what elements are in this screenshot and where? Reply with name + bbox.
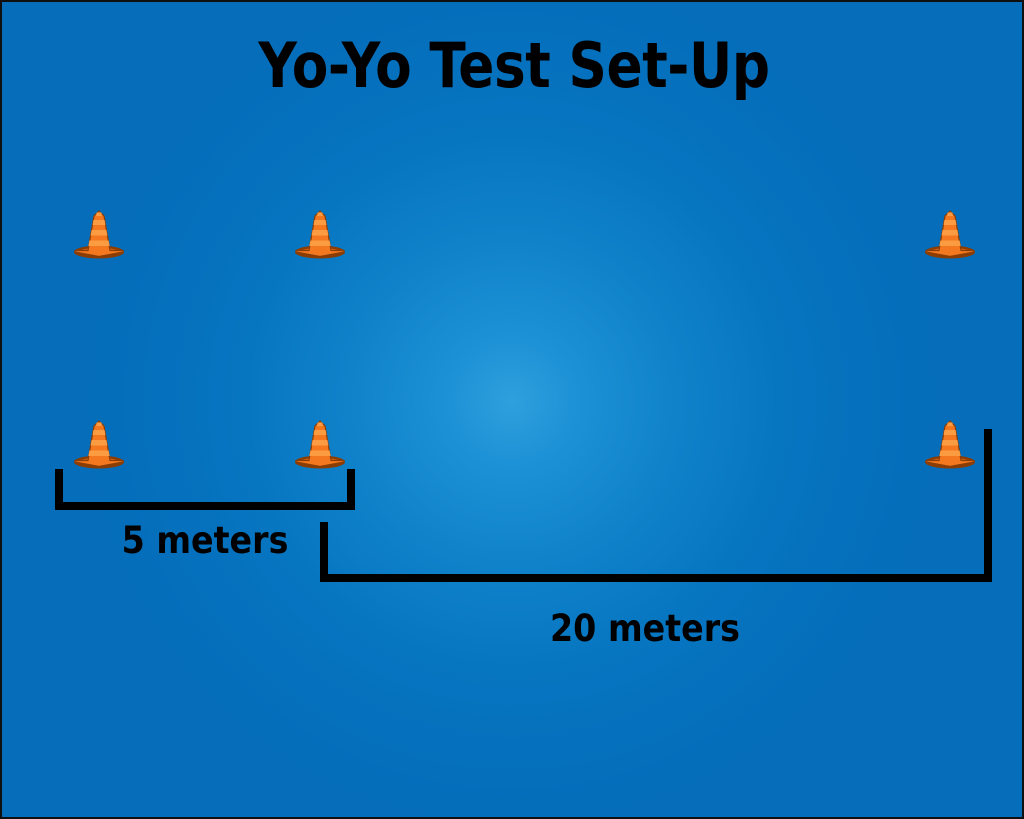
traffic-cone-icon (921, 416, 979, 470)
traffic-cone-icon (291, 206, 349, 260)
measure-20m-bracket-rail (320, 574, 992, 582)
traffic-cone-icon (921, 206, 979, 260)
measure-20m-label: 20 meters (537, 607, 753, 651)
slide-canvas: Yo-Yo Test Set-Up (0, 0, 1024, 819)
page-title: Yo-Yo Test Set-Up (74, 24, 955, 108)
traffic-cone-icon (70, 416, 128, 470)
traffic-cone-icon (70, 206, 128, 260)
traffic-cone-icon (291, 416, 349, 470)
measure-20m-bracket-left-tick (320, 522, 328, 580)
measure-5m-label: 5 meters (115, 519, 295, 563)
measure-5m-bracket-rail (55, 502, 355, 510)
measure-20m-bracket-right-tick (984, 429, 992, 580)
measure-5m-bracket-right-tick (347, 469, 355, 510)
